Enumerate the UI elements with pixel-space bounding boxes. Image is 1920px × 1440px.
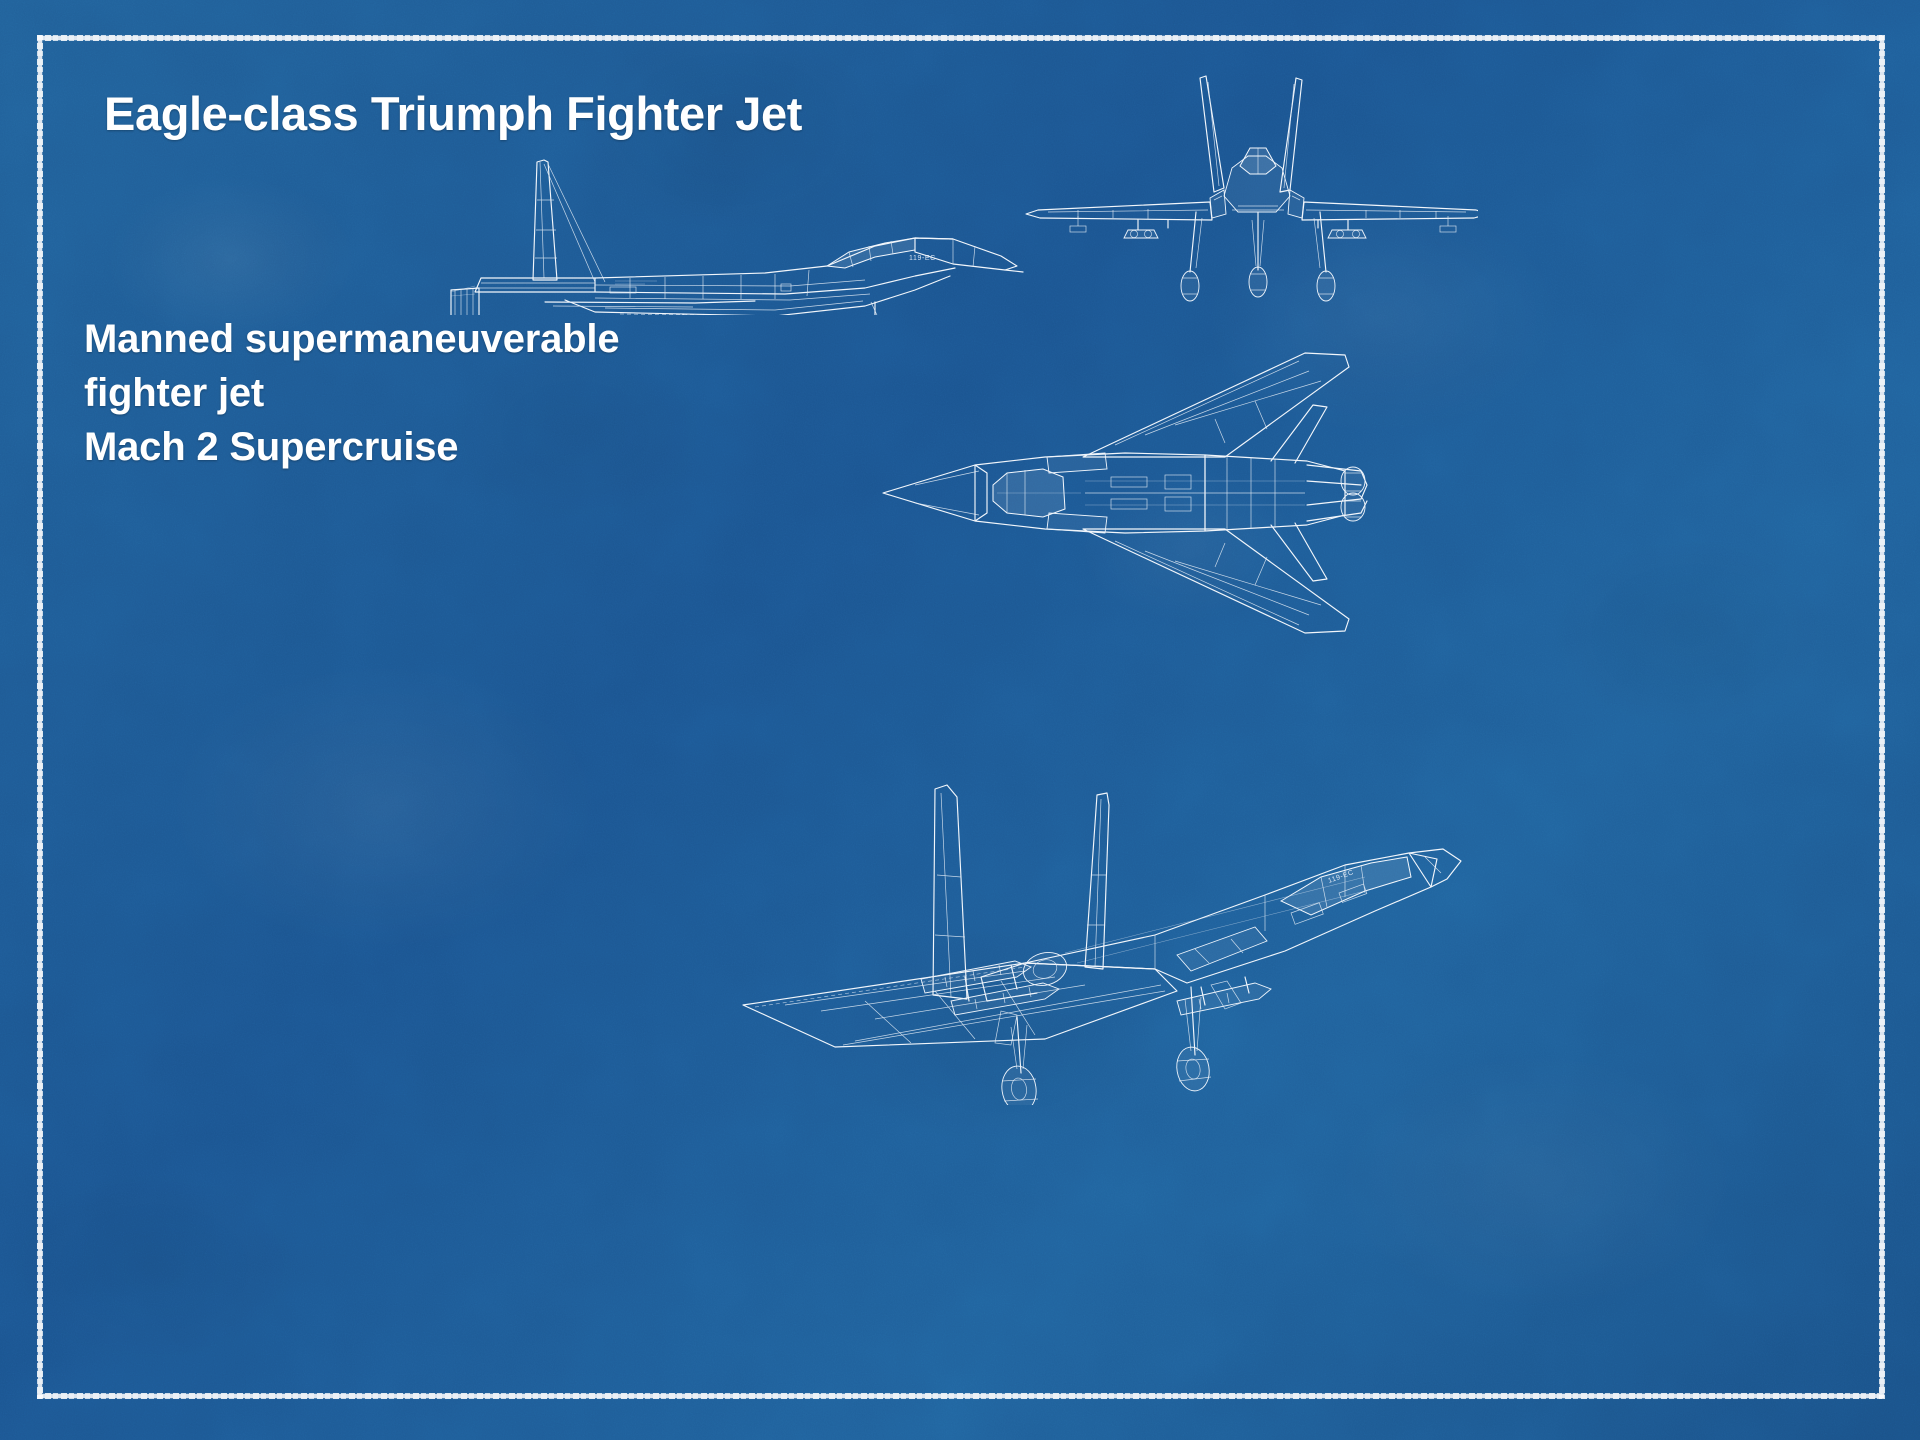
- side-view-drawing: 119-EC: [445, 140, 1025, 315]
- side-view-marking: 119-EC: [909, 255, 936, 262]
- frame-right-border: [1880, 36, 1884, 1398]
- frame-left-border: [38, 36, 42, 1398]
- blueprint-slide: 119-EC: [0, 0, 1920, 1440]
- subtitle-line-2: fighter jet: [84, 366, 619, 420]
- front-view-drawing: [1018, 60, 1478, 320]
- top-view-drawing: [875, 345, 1405, 635]
- frame-top-border: [38, 36, 1884, 40]
- page-title: Eagle-class Triumph Fighter Jet: [104, 86, 802, 141]
- subtitle-block: Manned supermaneuverable fighter jet Mac…: [84, 312, 619, 474]
- subtitle-line-1: Manned supermaneuverable: [84, 312, 619, 366]
- frame-bottom-border: [38, 1394, 1884, 1398]
- subtitle-line-3: Mach 2 Supercruise: [84, 420, 619, 474]
- perspective-view-drawing: 119-EC: [725, 755, 1465, 1105]
